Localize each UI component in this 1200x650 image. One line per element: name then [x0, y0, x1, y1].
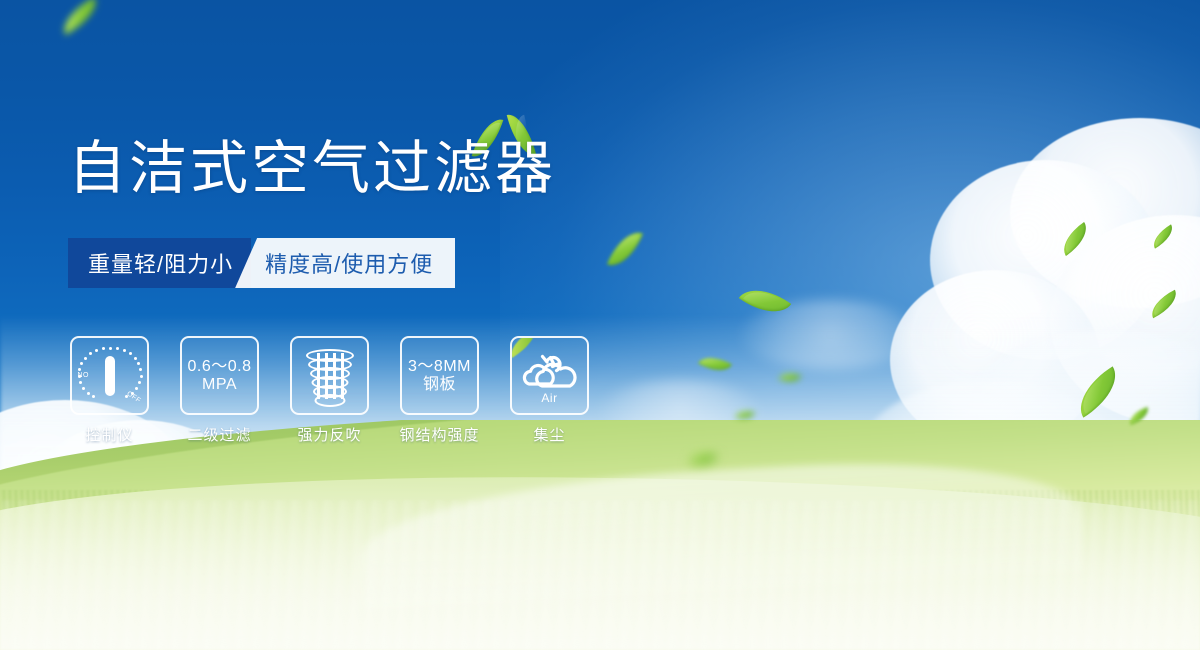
gauge-needle	[105, 356, 115, 396]
subtitle-segment-secondary: 精度高/使用方便	[235, 238, 455, 288]
cloud-glyph	[520, 352, 580, 396]
air-cloud-icon: Air	[520, 348, 580, 404]
grass-sheen	[0, 500, 1200, 650]
subtitle-segment-primary: 重量轻/阻力小	[68, 238, 251, 288]
gauge-label-off: OFF	[126, 390, 143, 404]
grass-field	[0, 420, 1200, 650]
feature-label: 钢结构强度	[399, 424, 479, 445]
feature-item-dust-collection[interactable]: Air 集尘	[508, 336, 591, 445]
feature-list: NO OFF 控制仪 0.6～0.8 MPA 二级过滤	[68, 336, 591, 445]
subtitle-bar: 重量轻/阻力小 精度高/使用方便	[68, 238, 455, 288]
feature-item-steel-strength[interactable]: 3～8MM 钢板 钢结构强度	[398, 336, 481, 445]
product-banner: 自洁式空气过滤器 重量轻/阻力小 精度高/使用方便	[0, 0, 1200, 650]
feature-item-filtration[interactable]: 0.6～0.8 MPA 二级过滤	[178, 336, 261, 445]
feature-icon-box: 3～8MM 钢板	[400, 336, 479, 415]
feature-label: 控制仪	[85, 424, 133, 445]
feature-icon-box	[290, 336, 369, 415]
feature-icon-box: Air	[510, 336, 589, 415]
steelplate-icon: 3～8MM 钢板	[408, 358, 471, 394]
air-label: Air	[520, 391, 580, 405]
gauge-icon: NO OFF	[79, 347, 141, 405]
page-title: 自洁式空气过滤器	[68, 140, 556, 198]
feature-label: 强力反吹	[297, 424, 361, 445]
feature-icon-box: 0.6～0.8 MPA	[180, 336, 259, 415]
feature-icon-box: NO OFF	[70, 336, 149, 415]
feature-label: 二级过滤	[187, 424, 251, 445]
pressure-icon: 0.6～0.8 MPA	[188, 358, 252, 394]
feature-item-controller[interactable]: NO OFF 控制仪	[68, 336, 151, 445]
feature-label: 集尘	[533, 424, 565, 445]
gauge-label-no: NO	[78, 372, 89, 379]
coil-icon	[303, 347, 357, 405]
feature-item-blowback[interactable]: 强力反吹	[288, 336, 371, 445]
